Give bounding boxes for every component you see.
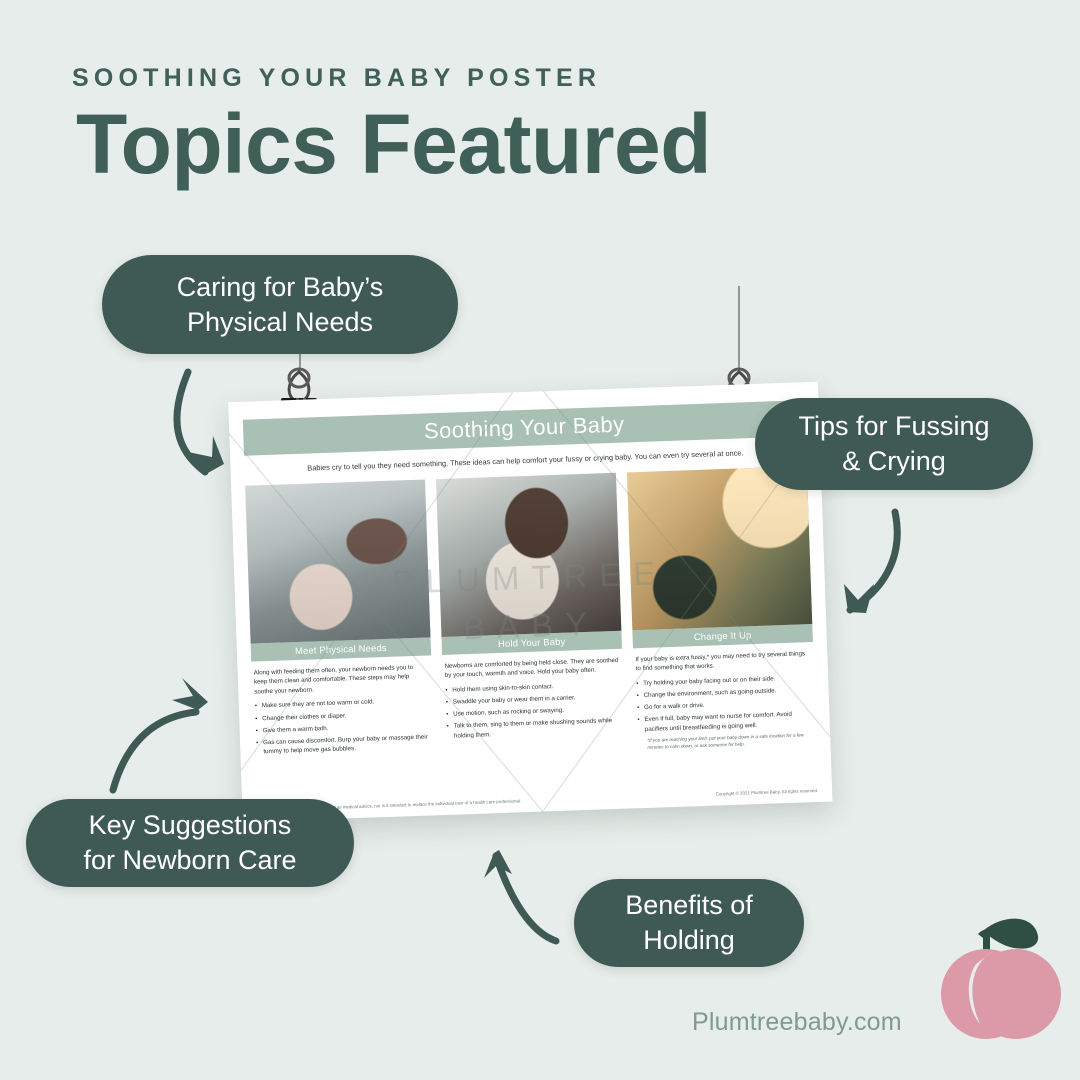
poster-column: Change It Up If your baby is extra fussy… [627,466,817,752]
column-bullet-list: Try holding your baby facing out or on t… [636,673,812,735]
poster-title-band: Soothing Your Baby [243,400,806,456]
poster-promo-graphic: SOOTHING YOUR BABY POSTER Topics Feature… [0,0,1080,1080]
callout-caring-for-babys-physical-needs[interactable]: Caring for Baby’s Physical Needs [102,255,458,354]
poster-copyright: Copyright © 2021 Plumtree Baby. All righ… [716,788,819,797]
arrow-to-key-suggestions [113,712,196,790]
column-intro: Newborns are comforted by being held clo… [444,655,619,680]
hanging-string-right [738,286,740,372]
poster-column: Hold Your Baby Newborns are comforted by… [436,472,626,758]
callout-key-suggestions-for-newborn-care[interactable]: Key Suggestions for Newborn Care [26,799,354,887]
column-photo-father-holding-baby [436,472,621,636]
list-item: Talk to them, sing to them or make shush… [446,716,621,741]
callout-line-1: Caring for Baby’s [177,270,384,305]
column-footnote: *If you are reaching your limit, put you… [638,733,812,752]
poster-column: Meet Physical Needs Along with feeding t… [245,479,435,765]
arrowhead-physical-needs [188,436,224,474]
arrow-to-physical-needs [177,372,205,472]
column-bullet-list: Hold them using skin-to-skin contact. Sw… [445,680,621,742]
column-intro: If your baby is extra fussy,* you may ne… [635,649,810,674]
callout-line-2: for Newborn Care [83,843,296,878]
website-url[interactable]: Plumtreebaby.com [692,1008,902,1037]
arrowhead-benefits [484,850,512,878]
callout-tips-for-fussing-and-crying[interactable]: Tips for Fussing & Crying [755,398,1033,490]
eyebrow-text: SOOTHING YOUR BABY POSTER [72,64,601,93]
callout-line-2: Physical Needs [177,305,384,340]
column-body: If your baby is extra fussy,* you may ne… [633,642,817,752]
callout-line-2: Holding [625,923,753,958]
column-caption: Meet Physical Needs [295,642,387,656]
column-bullet-list: Make sure they are not too warm or cold.… [255,696,431,758]
poster-footer: This information should not be construed… [256,788,818,813]
callout-benefits-of-holding[interactable]: Benefits of Holding [574,879,804,967]
column-body: Along with feeding them often, your newb… [251,655,434,758]
column-photo-mother-and-baby [245,479,430,643]
column-photo-stroller-outdoors [627,466,812,630]
column-intro: Along with feeding them often, your newb… [253,662,428,697]
arrow-to-tips [850,512,897,610]
soothing-your-baby-poster: Soothing Your Baby Babies cry to tell yo… [228,382,832,822]
callout-line-2: & Crying [798,444,989,479]
arrowhead-key-suggestions [172,678,208,710]
callout-line-1: Key Suggestions [83,808,296,843]
callout-line-1: Tips for Fussing [798,409,989,444]
list-item: Even if full, baby may want to nurse for… [637,709,812,734]
peach-logo-icon [928,898,1074,1044]
column-caption: Hold Your Baby [498,636,566,649]
column-body: Newborns are comforted by being held clo… [442,648,625,741]
page-title: Topics Featured [76,100,711,188]
arrowhead-tips [844,584,874,613]
list-item: Gas can cause discomfort. Burp your baby… [256,732,431,757]
poster-columns: Meet Physical Needs Along with feeding t… [245,466,816,766]
callout-line-1: Benefits of [625,888,753,923]
column-caption: Change It Up [694,629,752,642]
arrow-to-benefits [496,856,556,941]
poster-title: Soothing Your Baby [424,411,625,444]
